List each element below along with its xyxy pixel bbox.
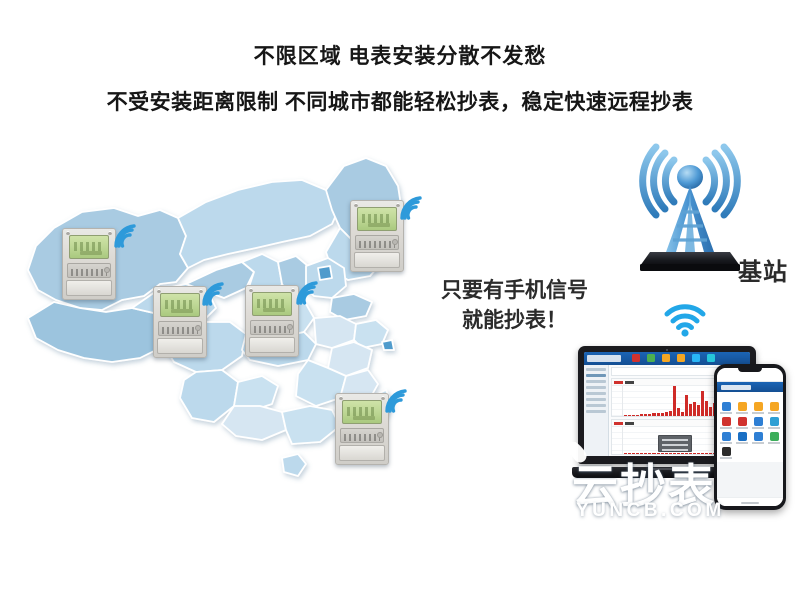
app-tile-5[interactable] — [719, 417, 733, 429]
cell-tower-icon — [636, 140, 744, 275]
bar-6 — [644, 414, 647, 416]
phone-icon-grid[interactable] — [717, 399, 783, 462]
meter-terminal-cover — [66, 280, 112, 296]
meter-button — [104, 267, 110, 273]
bar-5 — [640, 414, 643, 416]
bar-18 — [693, 402, 696, 416]
bar-22 — [709, 453, 712, 454]
headline-primary: 不限区域 电表安装分散不发愁 — [0, 40, 800, 70]
bar-5 — [640, 453, 643, 454]
toolbar-icon-2[interactable] — [647, 354, 655, 362]
bar-9 — [657, 413, 660, 416]
promo-banner: 不限区域 电表安装分散不发愁 不受安装距离限制 不同城市都能轻松抄表，稳定快速远… — [0, 0, 800, 600]
bar-14 — [677, 453, 680, 454]
wifi-signal-icon — [112, 224, 138, 248]
app-tile-6[interactable] — [735, 417, 749, 429]
bar-13 — [673, 453, 676, 454]
legend-swatch-red — [614, 422, 623, 425]
meter-terminal-cover — [339, 445, 385, 461]
wifi-signal-icon — [200, 282, 226, 306]
chart-y-axis — [612, 386, 623, 416]
toolbar-icon-1[interactable] — [632, 354, 640, 362]
bar-15 — [681, 412, 684, 416]
bar-19 — [697, 405, 700, 416]
app-tile-11[interactable] — [751, 432, 765, 444]
bar-19 — [697, 453, 700, 454]
bar-6 — [644, 453, 647, 454]
chart-tooltip — [658, 435, 692, 452]
bar-8 — [652, 453, 655, 454]
meter-southeast — [335, 393, 389, 465]
meter-northwest — [62, 228, 116, 300]
bar-22 — [709, 407, 712, 416]
meter-button — [287, 324, 293, 330]
wifi-signal-icon — [398, 196, 424, 220]
bar-7 — [648, 414, 651, 416]
meter-body — [153, 286, 207, 358]
meter-body — [335, 393, 389, 465]
bar-16 — [685, 453, 688, 454]
bar-18 — [693, 453, 696, 454]
meter-terminal-cover — [249, 337, 295, 353]
bar-2 — [628, 415, 631, 416]
phone-nav-bar[interactable] — [717, 374, 783, 382]
webcam-icon — [666, 349, 669, 352]
bar-1 — [624, 453, 627, 454]
app-tile-7[interactable] — [751, 417, 765, 429]
meter-southwest — [153, 286, 207, 358]
phone-section-title — [717, 392, 783, 399]
callout-text: 只要有手机信号 就能抄表！ — [412, 276, 617, 336]
app-tile-4[interactable] — [767, 402, 781, 414]
dashboard-toolbar-icons[interactable] — [632, 354, 715, 362]
bar-12 — [669, 411, 672, 416]
app-tile-2[interactable] — [735, 402, 749, 414]
meter-display — [69, 235, 109, 259]
toolbar-icon-4[interactable] — [677, 354, 685, 362]
app-tile-8[interactable] — [767, 417, 781, 429]
callout-line-1: 只要有手机信号 — [412, 276, 617, 306]
app-tile-10[interactable] — [735, 432, 749, 444]
phone-notch — [738, 368, 762, 372]
bar-1 — [624, 415, 627, 416]
bar-7 — [648, 453, 651, 454]
bar-4 — [636, 453, 639, 454]
dashboard-logo — [587, 355, 621, 362]
meter-central — [245, 285, 299, 357]
bar-21 — [705, 401, 708, 416]
mobile-app — [714, 364, 786, 510]
toolbar-icon-3[interactable] — [662, 354, 670, 362]
phone-app-header — [717, 382, 783, 392]
meter-display — [160, 293, 200, 317]
legend-swatch-red — [614, 381, 623, 384]
bar-16 — [685, 395, 688, 416]
bar-17 — [689, 453, 692, 454]
headline-secondary: 不受安装距离限制 不同城市都能轻松抄表，稳定快速远程抄表 — [0, 86, 800, 116]
bar-20 — [701, 453, 704, 454]
meter-display — [342, 400, 382, 424]
dashboard-sidebar[interactable] — [584, 365, 609, 456]
phone-screen — [717, 368, 783, 506]
bar-10 — [661, 453, 664, 454]
tower-label: 基站 — [738, 252, 788, 287]
meter-button — [392, 239, 398, 245]
phone-home-indicator — [717, 497, 783, 506]
meter-northeast — [350, 200, 404, 272]
bar-4 — [636, 415, 639, 416]
bar-17 — [689, 404, 692, 416]
bar-10 — [661, 413, 664, 416]
app-tile-12[interactable] — [767, 432, 781, 444]
toolbar-icon-5[interactable] — [692, 354, 700, 362]
meter-body — [245, 285, 299, 357]
meter-button — [195, 325, 201, 331]
wifi-signal-icon — [383, 389, 409, 413]
bar-21 — [705, 453, 708, 454]
bar-12 — [669, 453, 672, 454]
wifi-icon — [662, 300, 708, 338]
bar-20 — [701, 391, 704, 416]
bar-14 — [677, 408, 680, 416]
bar-3 — [632, 415, 635, 416]
bar-3 — [632, 453, 635, 454]
meter-display — [252, 292, 292, 316]
app-tile-9[interactable] — [719, 432, 733, 444]
bar-13 — [673, 386, 676, 416]
bar-9 — [657, 453, 660, 454]
legend-swatch-dark — [625, 381, 634, 384]
bar-2 — [628, 453, 631, 454]
meter-body — [62, 228, 116, 300]
legend-swatch-dark — [625, 422, 634, 425]
chart-y-axis — [612, 427, 623, 454]
callout-line-2: 就能抄表！ — [412, 306, 617, 336]
phone-app-logo — [721, 385, 751, 390]
meter-body — [350, 200, 404, 272]
app-tile-1[interactable] — [719, 402, 733, 414]
meter-terminal-cover — [354, 252, 400, 268]
meter-terminal-cover — [157, 338, 203, 354]
meter-display — [357, 207, 397, 231]
bar-8 — [652, 413, 655, 416]
bar-11 — [665, 453, 668, 454]
watermark-url: YUNCB.COM — [576, 500, 725, 522]
app-tile-3[interactable] — [751, 402, 765, 414]
bar-15 — [681, 453, 684, 454]
toolbar-icon-6[interactable] — [707, 354, 715, 362]
app-tile-13[interactable] — [719, 447, 733, 459]
bar-11 — [665, 412, 668, 416]
meter-button — [377, 432, 383, 438]
wifi-signal-icon — [294, 281, 320, 305]
